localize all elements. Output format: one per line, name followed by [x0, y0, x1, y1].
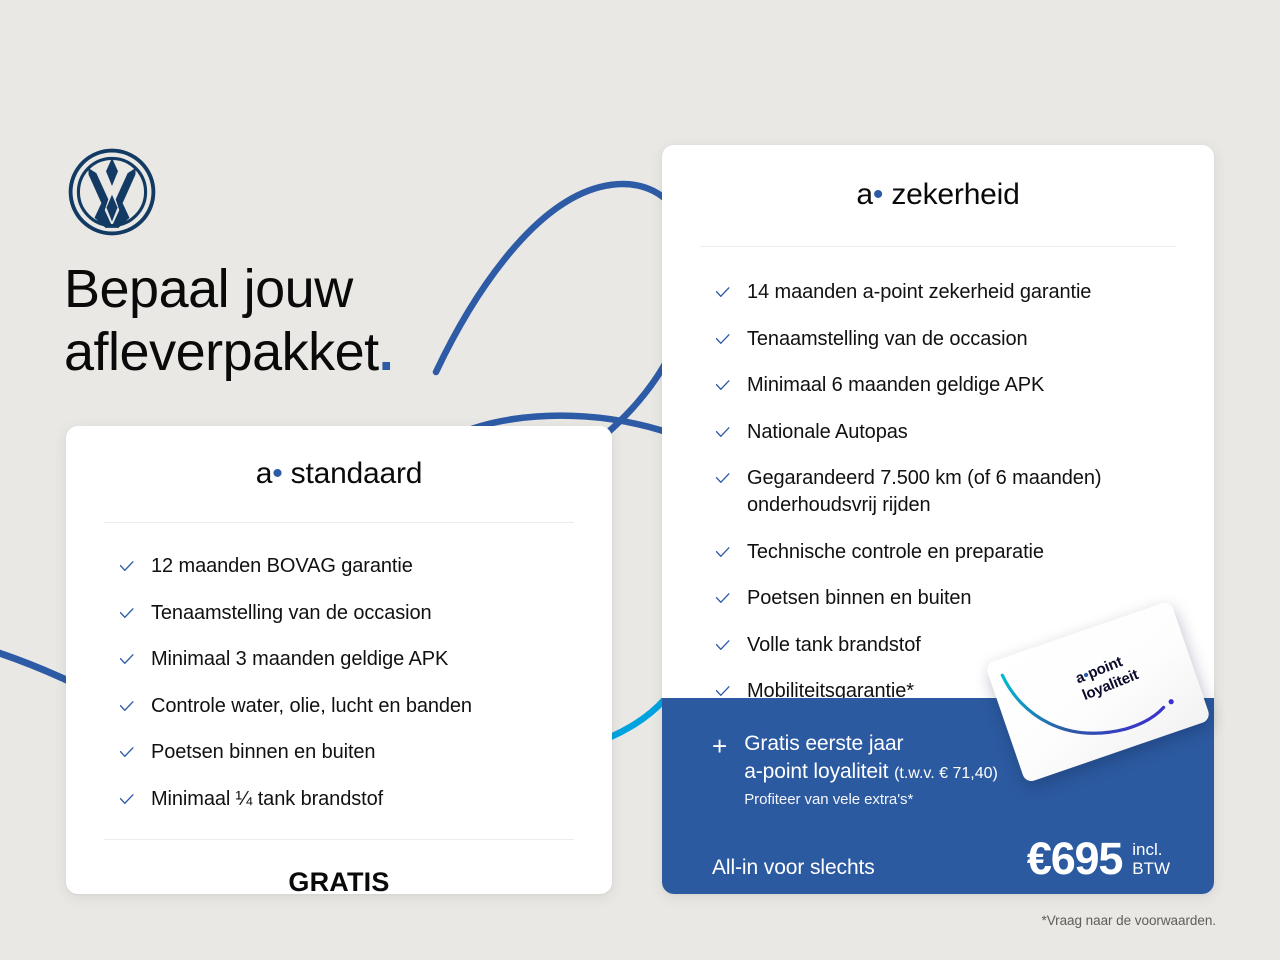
bonus-subtext: Profiteer van vele extra's*	[744, 791, 998, 808]
package-card-zekerheid[interactable]: a• zekerheid 14 maanden a-point zekerhei…	[662, 145, 1214, 894]
standaard-card-title: a• standaard	[66, 457, 612, 491]
bonus-line-2: a-point loyaliteit	[744, 760, 888, 783]
page-title: Bepaal jouw afleverpakket.	[64, 258, 584, 383]
feature-label: Volle tank brandstof	[747, 632, 921, 659]
feature-label: Nationale Autopas	[747, 419, 908, 446]
feature-label: Gegarandeerd 7.500 km (of 6 maanden) ond…	[747, 465, 1177, 519]
check-icon	[714, 470, 731, 487]
check-icon	[714, 544, 731, 561]
standaard-feature-list: 12 maanden BOVAG garantie Tenaamstelling…	[118, 553, 612, 813]
check-icon	[118, 651, 135, 668]
feature-label: Minimaal ¼ tank brandstof	[151, 786, 383, 813]
check-icon	[118, 698, 135, 715]
plus-icon: +	[712, 733, 727, 759]
zekerheid-title-prefix: a	[856, 178, 873, 211]
feature-label: Technische controle en preparatie	[747, 539, 1044, 566]
price-amount: €695	[1027, 836, 1122, 881]
list-item: Technische controle en preparatie	[714, 539, 1214, 566]
check-icon	[714, 284, 731, 301]
check-icon	[118, 744, 135, 761]
list-item: Controle water, olie, lucht en banden	[118, 693, 612, 720]
promo-banner: Bepaal jouw afleverpakket. a• standaard …	[0, 0, 1280, 960]
feature-label: 12 maanden BOVAG garantie	[151, 553, 413, 580]
footnote-disclaimer: *Vraag naar de voorwaarden.	[1041, 913, 1216, 928]
check-icon	[714, 331, 731, 348]
volkswagen-logo	[66, 146, 158, 238]
check-icon	[714, 590, 731, 607]
brand-dot-icon: •	[873, 178, 883, 211]
zekerheid-title-text: zekerheid	[891, 178, 1019, 211]
price-vat-note: incl. BTW	[1132, 840, 1170, 879]
list-item: Nationale Autopas	[714, 419, 1214, 446]
divider-top	[104, 522, 574, 523]
price-label: All-in voor slechts	[712, 856, 875, 880]
bonus-value-note: (t.w.v. € 71,40)	[894, 765, 998, 782]
list-item: Minimaal 6 maanden geldige APK	[714, 372, 1214, 399]
headline-period: .	[379, 322, 394, 382]
divider-bottom	[104, 839, 574, 840]
standaard-price-label: GRATIS	[66, 867, 612, 898]
feature-label: Tenaamstelling van de occasion	[747, 326, 1028, 353]
package-card-standaard[interactable]: a• standaard 12 maanden BOVAG garantie T…	[66, 426, 612, 894]
price-row: All-in voor slechts €695 incl. BTW	[712, 836, 1214, 881]
check-icon	[714, 377, 731, 394]
list-item: Tenaamstelling van de occasion	[714, 326, 1214, 353]
list-item: Minimaal ¼ tank brandstof	[118, 786, 612, 813]
zekerheid-card-title: a• zekerheid	[662, 178, 1214, 212]
brand-dot-icon: •	[272, 457, 282, 490]
feature-label: Minimaal 6 maanden geldige APK	[747, 372, 1044, 399]
headline-line-2: afleverpakket	[64, 322, 379, 382]
feature-label: Controle water, olie, lucht en banden	[151, 693, 472, 720]
standaard-title-prefix: a	[256, 457, 273, 490]
check-icon	[118, 558, 135, 575]
list-item: Gegarandeerd 7.500 km (of 6 maanden) ond…	[714, 465, 1214, 519]
list-item: 12 maanden BOVAG garantie	[118, 553, 612, 580]
check-icon	[714, 424, 731, 441]
headline-line-1: Bepaal jouw	[64, 259, 353, 319]
feature-label: 14 maanden a-point zekerheid garantie	[747, 279, 1091, 306]
feature-label: Poetsen binnen en buiten	[747, 585, 971, 612]
price-vat-line-1: incl.	[1132, 840, 1170, 860]
list-item: Minimaal 3 maanden geldige APK	[118, 646, 612, 673]
standaard-title-text: standaard	[291, 457, 423, 490]
feature-label: Poetsen binnen en buiten	[151, 739, 375, 766]
list-item: 14 maanden a-point zekerheid garantie	[714, 279, 1214, 306]
check-icon	[118, 791, 135, 808]
price-vat-line-2: BTW	[1132, 859, 1170, 879]
list-item: Poetsen binnen en buiten	[714, 585, 1214, 612]
list-item: Poetsen binnen en buiten	[118, 739, 612, 766]
check-icon	[118, 605, 135, 622]
bonus-line-1: Gratis eerste jaar	[744, 730, 998, 758]
feature-label: Tenaamstelling van de occasion	[151, 600, 432, 627]
check-icon	[714, 637, 731, 654]
feature-label: Minimaal 3 maanden geldige APK	[151, 646, 448, 673]
list-item: Tenaamstelling van de occasion	[118, 600, 612, 627]
divider-top	[700, 246, 1176, 247]
